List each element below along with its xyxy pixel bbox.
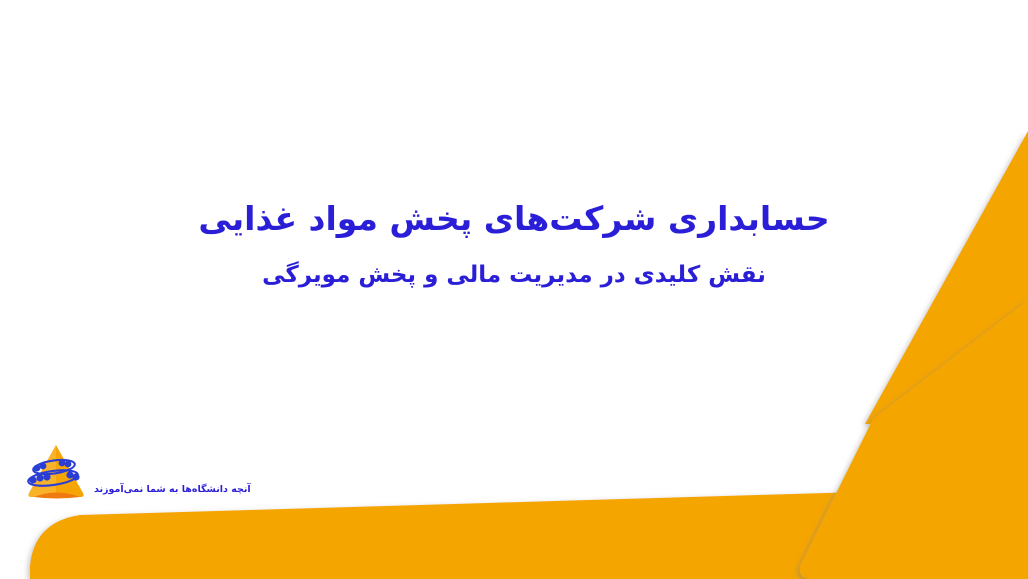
page-subtitle: نقش کلیدی در مدیریت مالی و پخش مویرگی [90, 259, 938, 291]
bottom-right-wedge-shape [800, 300, 1028, 579]
presentation-slide: حسابداری شرکت‌های پخش مواد غذایی نقش کلی… [0, 0, 1028, 579]
logo-tagline: آنچه دانشگاه‌ها به شما نمی‌آموزند [94, 484, 251, 495]
brand-logo: محصیل حاسب آنچه دانشگاه‌ها به شما نمی‌آم… [24, 441, 251, 503]
page-title: حسابداری شرکت‌های پخش مواد غذایی [90, 196, 938, 242]
title-block: حسابداری شرکت‌های پخش مواد غذایی نقش کلی… [0, 196, 1028, 291]
logo-wordmark: محصیل حاسب [94, 448, 244, 482]
logo-text-block: محصیل حاسب آنچه دانشگاه‌ها به شما نمی‌آم… [94, 448, 251, 497]
pyramid-abacus-icon [24, 441, 88, 503]
